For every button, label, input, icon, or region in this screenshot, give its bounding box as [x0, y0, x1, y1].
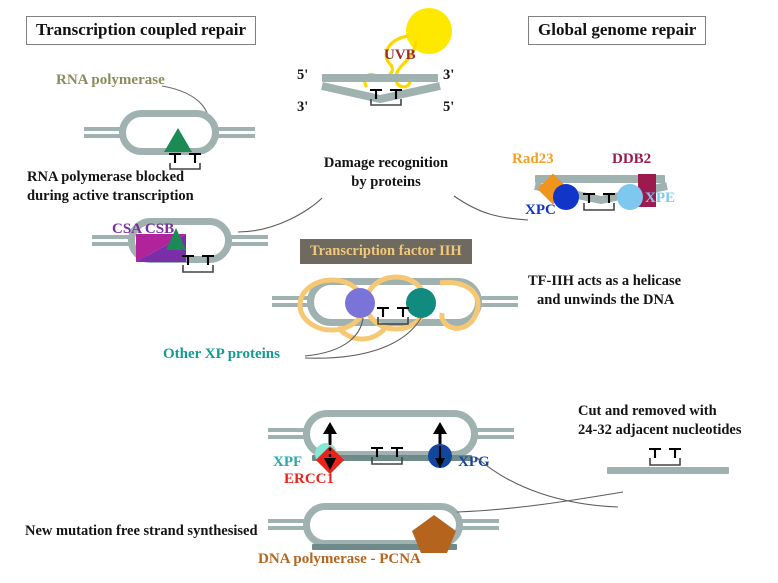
- ercc1-label: ERCC1: [284, 472, 334, 487]
- xpe-label: XPE: [645, 191, 675, 206]
- five-prime-top-label: 5': [297, 66, 308, 85]
- xpg-arrow-icon: [432, 444, 448, 470]
- caption-damage-line1: Damage recognition: [315, 154, 457, 173]
- tfiih-banner: Transcription factor IIH: [300, 239, 472, 264]
- dna-tail-left-5: [268, 519, 308, 530]
- csa-csb-label: CSA CSB: [112, 222, 174, 237]
- three-prime-bottom-label: 3': [297, 98, 308, 117]
- dna-tail-left-4: [268, 428, 308, 439]
- dna-tail-right-4: [474, 428, 514, 439]
- tfiih-banner-label: Transcription factor IIH: [310, 243, 462, 259]
- thymine-dimer-icon-ggr: [577, 192, 621, 216]
- nucleotide-excision-repair-diagram: Transcription coupled repair Global geno…: [0, 0, 778, 583]
- thymine-dimer-icon: [364, 88, 408, 110]
- section-title-global-genome-repair: Global genome repair: [528, 16, 706, 45]
- ddb2-label: DDB2: [612, 152, 651, 167]
- xpf-label: XPF: [273, 455, 302, 470]
- other-xp-proteins-label: Other XP proteins: [163, 347, 280, 362]
- synthesis-connector: [455, 490, 625, 520]
- dna-tail-right-5: [459, 519, 499, 530]
- excised-fragment-strand: [607, 467, 729, 474]
- rad23-label: Rad23: [512, 152, 554, 167]
- caption-cut-line2: 24-32 adjacent nucleotides: [578, 421, 742, 440]
- uvb-label: UVB: [384, 48, 416, 63]
- dna-top-strand-damage: [322, 74, 438, 82]
- caption-damage-line2: by proteins: [315, 173, 457, 192]
- caption-helicase-line1: TF-IIH acts as a helicase: [528, 272, 681, 291]
- down-arrow-icon: [322, 442, 338, 472]
- caption-cut-line1: Cut and removed with: [578, 402, 717, 421]
- dna-tail-right-1: [215, 127, 255, 138]
- caption-blocked-line1: RNA polymerase blocked: [27, 168, 184, 187]
- three-prime-top-label: 3': [443, 66, 454, 85]
- caption-blocked-line2: during active transcription: [27, 187, 194, 206]
- caption-new-strand: New mutation free strand synthesised: [25, 522, 258, 541]
- xpc-label: XPC: [525, 203, 556, 218]
- green-triangle-icon-1: [164, 128, 192, 152]
- section-title-transcription-coupled-repair: Transcription coupled repair: [26, 16, 256, 45]
- rna-polymerase-label: RNA polymerase: [56, 73, 165, 88]
- dna-polymerase-pcna-label: DNA polymerase - PCNA: [258, 552, 421, 567]
- other-xp-connectors: [303, 316, 433, 364]
- five-prime-bottom-label: 5': [443, 98, 454, 117]
- dna-tail-left-1: [84, 127, 124, 138]
- thymine-dimer-icon-2: [176, 254, 220, 278]
- thymine-dimer-icon-4: [365, 446, 409, 470]
- brown-pentagon-icon: [412, 515, 456, 553]
- caption-helicase-line2: and unwinds the DNA: [537, 291, 674, 310]
- blue-circle-icon: [553, 184, 579, 210]
